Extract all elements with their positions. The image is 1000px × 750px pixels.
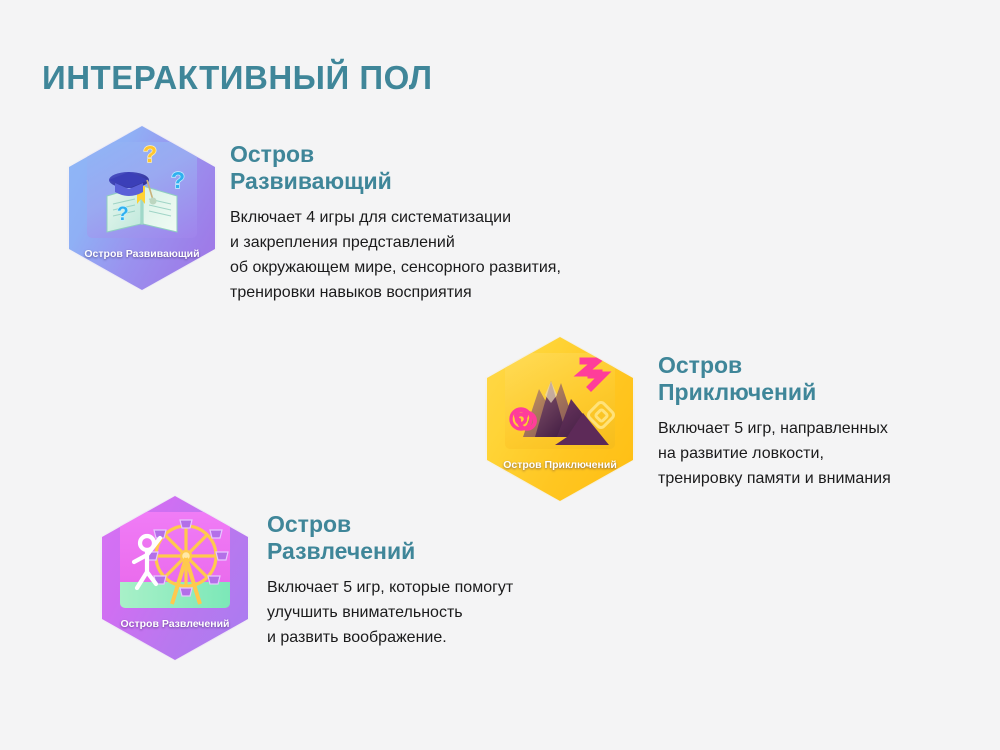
slide-root: ИНТЕРАКТИВНЫЙ ПОЛ — [0, 0, 1000, 750]
badge-label-razvlecheniy: Остров Развлечений — [102, 618, 248, 631]
badge-artwork-mountains — [505, 353, 615, 449]
svg-text:?: ? — [143, 142, 157, 167]
badge-label-priklyucheniy: Остров Приключений — [487, 459, 633, 472]
island-text-priklyucheniy: Остров Приключений Включает 5 игр, напра… — [658, 352, 988, 491]
island-description-razvlecheniy: Включает 5 игр, которые помогут улучшить… — [267, 575, 617, 650]
badge-label-razvivayushchiy: Остров Развивающий — [69, 248, 215, 261]
hexagon-shape: Остров Приключений — [487, 337, 633, 501]
island-heading-razvlecheniy: Остров Развлечений — [267, 511, 617, 565]
page-title: ИНТЕРАКТИВНЫЙ ПОЛ — [42, 59, 433, 97]
badge-razvivayushchiy[interactable]: ? ? ? Остров Развивающий — [62, 122, 222, 294]
island-description-razvivayushchiy: Включает 4 игры для систематизации и зак… — [230, 205, 660, 305]
island-text-razvlecheniy: Остров Развлечений Включает 5 игр, котор… — [267, 511, 617, 650]
hexagon-shape: Остров Развлечений — [102, 496, 248, 660]
svg-text:?: ? — [171, 167, 185, 193]
badge-artwork-ferris-wheel — [120, 512, 230, 608]
island-heading-razvivayushchiy: Остров Развивающий — [230, 141, 660, 195]
badge-priklyucheniy[interactable]: Остров Приключений — [480, 333, 640, 505]
badge-razvlecheniy[interactable]: Остров Развлечений — [95, 492, 255, 664]
island-description-priklyucheniy: Включает 5 игр, направленных на развитие… — [658, 416, 988, 491]
svg-text:?: ? — [117, 204, 129, 225]
island-heading-priklyucheniy: Остров Приключений — [658, 352, 988, 406]
hexagon-shape: ? ? ? Остров Развивающий — [69, 126, 215, 290]
badge-artwork-open-book-graduation-cap: ? ? ? — [87, 142, 197, 238]
island-text-razvivayushchiy: Остров Развивающий Включает 4 игры для с… — [230, 141, 660, 305]
